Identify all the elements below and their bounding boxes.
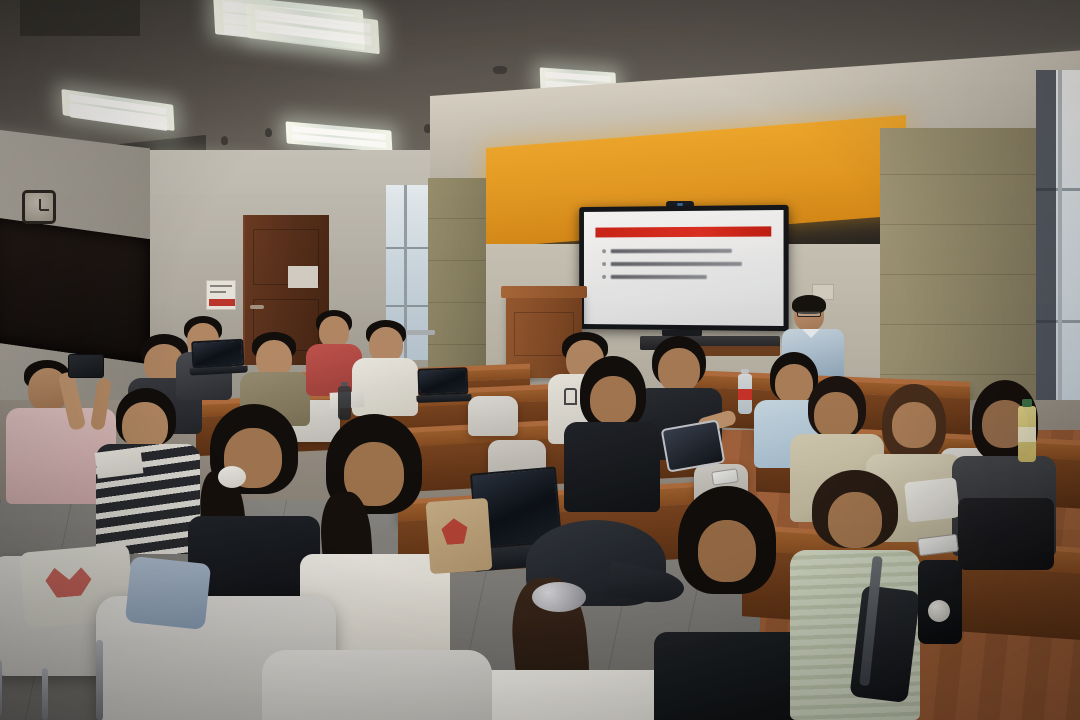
open-laptop[interactable] <box>417 367 468 403</box>
water-bottle[interactable] <box>738 374 752 414</box>
backpack[interactable] <box>958 498 1054 570</box>
ceiling-sprinkler <box>221 136 228 145</box>
jacket-on-chair <box>125 556 211 630</box>
wood-wall-column <box>428 178 486 373</box>
water-bottle[interactable] <box>1018 406 1036 462</box>
seminar-room-photo: ——————————— ———————————— ———————— <box>0 0 1080 720</box>
hair-scrunchie <box>218 466 246 488</box>
wall-clock-icon <box>22 190 56 224</box>
bag-logo <box>44 565 92 599</box>
open-laptop[interactable] <box>191 339 245 376</box>
ceiling-sprinkler <box>265 128 272 137</box>
chair-leg <box>42 668 48 720</box>
presentation-screen[interactable]: ——————————— ———————————— ———————— <box>579 205 788 331</box>
chair-leg <box>96 640 103 720</box>
audience-member <box>654 486 804 720</box>
water-bottle[interactable] <box>338 386 351 420</box>
air-vent <box>20 0 140 36</box>
bag-logo <box>441 517 469 545</box>
notebook[interactable] <box>95 447 144 478</box>
audience-chair[interactable] <box>468 396 518 436</box>
door-handle[interactable] <box>250 305 264 309</box>
door-notice-paper <box>288 266 318 288</box>
fluorescent-troffer <box>61 89 174 131</box>
smartphone[interactable] <box>68 354 104 378</box>
fluorescent-troffer <box>285 121 392 152</box>
bag-charm <box>928 600 950 622</box>
audience-member <box>564 356 660 506</box>
ceiling-sprinkler <box>493 66 507 74</box>
glasses-icon <box>797 311 821 317</box>
wall-notice-sign <box>206 280 236 310</box>
audience-chair[interactable] <box>262 650 492 720</box>
beaded-hair-tie <box>532 582 586 612</box>
chair-leg <box>0 660 2 716</box>
slide-content: ——————————— ———————————— ———————— <box>584 210 784 326</box>
